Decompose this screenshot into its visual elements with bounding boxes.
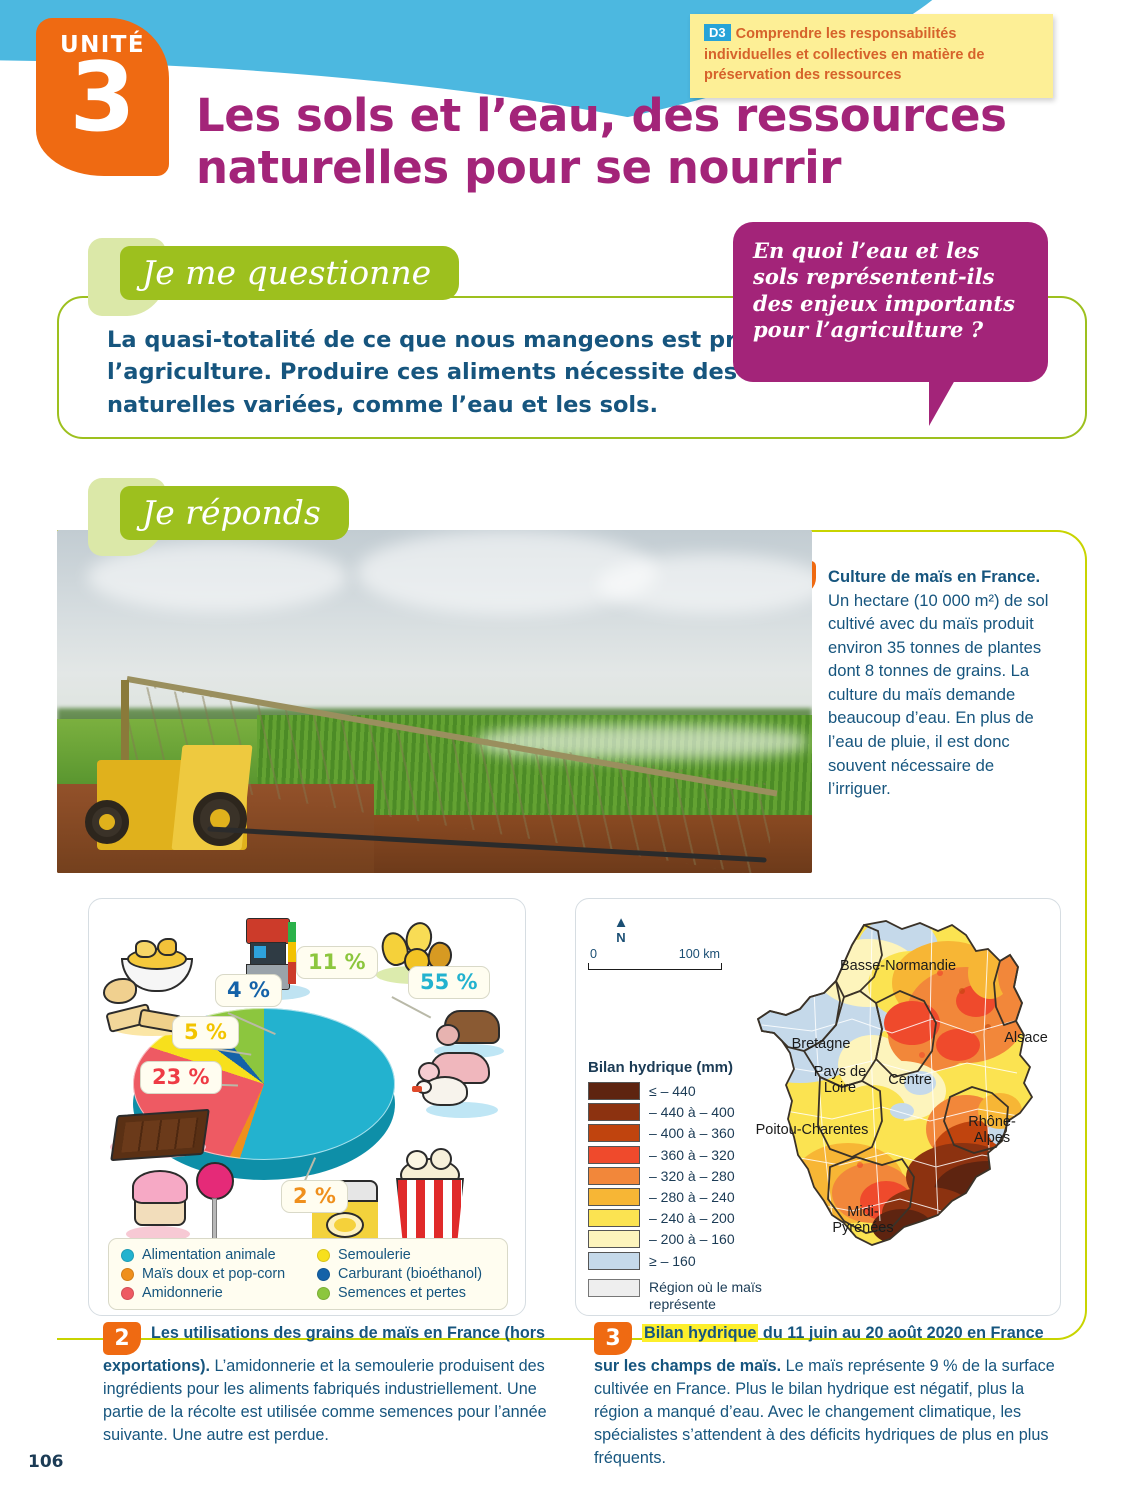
map-legend-label: – 240 à – 200: [649, 1210, 735, 1226]
north-arrow-icon: ▲: [604, 915, 638, 930]
figure-1-title: Culture de maïs en France.: [828, 567, 1040, 586]
pie-label-value: 4 %: [227, 978, 270, 1002]
map-label-basse-normandie: Basse-Normandie: [818, 959, 978, 975]
map-legend-label: – 280 à – 240: [649, 1189, 735, 1205]
pie-chart-legend: Alimentation animale Semoulerie Maïs dou…: [108, 1238, 508, 1310]
pie-label-value: 2 %: [293, 1184, 336, 1208]
pie-label-mais-doux-popcorn: 2 %: [281, 1180, 348, 1213]
pie-label-value: 5 %: [184, 1020, 227, 1044]
map-legend-swatch-icon: [588, 1230, 640, 1248]
map-legend-label: – 440 à – 400: [649, 1104, 735, 1120]
map-legend-swatch-icon: [588, 1209, 640, 1227]
map-label-poitou-charentes: Poitou-Charentes: [732, 1123, 892, 1139]
legend-swatch-icon: [121, 1268, 134, 1281]
figure-2-number-badge: 2: [103, 1322, 141, 1355]
legend-label: Alimentation animale: [142, 1247, 276, 1263]
map-legend-extra-line1: Région où le maïs représente: [649, 1279, 762, 1313]
legend-label: Amidonnerie: [142, 1285, 223, 1301]
page-number: 106: [28, 1452, 64, 1472]
pie-label-value: 23 %: [152, 1065, 210, 1089]
map-label-centre: Centre: [870, 1073, 950, 1089]
north-arrow: ▲ N: [604, 915, 638, 945]
pie-label-value: 11 %: [308, 950, 366, 974]
scale-min-label: 0: [590, 947, 597, 961]
pie-label-semoulerie: 5 %: [172, 1016, 239, 1049]
legend-item-semences-et-pertes: Semences et pertes: [317, 1285, 517, 1301]
map-legend-label: – 200 à – 160: [649, 1231, 735, 1247]
map-label-rhone-alpes: Rhône-Alpes: [952, 1115, 1032, 1147]
unit-badge: UNITÉ 3: [36, 18, 169, 176]
figure-2-caption: 2Les utilisations des grains de maïs en …: [103, 1322, 553, 1447]
scale-max-label: 100 km: [679, 947, 720, 961]
maize-irrigation-photo: [57, 530, 812, 873]
legend-label: Semences et pertes: [338, 1285, 466, 1301]
legend-swatch-icon: [317, 1249, 330, 1262]
page-title: Les sols et l’eau, des ressources nature…: [196, 90, 1016, 194]
map-label-bretagne: Bretagne: [766, 1037, 876, 1053]
guiding-question-text: En quoi l’eau et les sols représentent-i…: [733, 222, 1048, 343]
map-card: ▲ N 0 100 km Bilan hydrique (mm) ≤ – 440…: [575, 898, 1061, 1316]
map-label-alsace: Alsace: [994, 1031, 1058, 1047]
map-legend-swatch-icon: [588, 1188, 640, 1206]
pie-label-semences-et-pertes: 11 %: [296, 946, 378, 979]
map-legend-swatch-icon: [588, 1103, 640, 1121]
france-map-graphic: Basse-Normandie Bretagne Pays de Loire C…: [752, 915, 1052, 1305]
map-scale-bar: 0 100 km: [588, 947, 722, 970]
bubble-tail: [929, 380, 971, 426]
guiding-question-bubble: En quoi l’eau et les sols représentent-i…: [733, 222, 1048, 382]
map-legend-label: – 320 à – 280: [649, 1168, 735, 1184]
legend-swatch-icon: [121, 1287, 134, 1300]
section-tab-questionne: Je me questionne: [88, 238, 418, 318]
section-tab-reponds-label: Je réponds: [120, 486, 349, 540]
north-label: N: [604, 930, 638, 945]
competency-code-badge: D3: [704, 24, 731, 41]
map-legend-label: – 360 à – 320: [649, 1147, 735, 1163]
figure-3-number-badge: 3: [594, 1322, 632, 1355]
competency-sticky-note: D3Comprendre les responsabilités individ…: [690, 14, 1053, 98]
figure-3-title-highlight: Bilan hydrique: [642, 1324, 758, 1342]
map-legend-swatch-icon: [588, 1082, 640, 1100]
legend-item-mais-doux-popcorn: Maïs doux et pop-corn: [121, 1266, 317, 1282]
map-legend-swatch-icon: [588, 1124, 640, 1142]
section-tab-reponds: Je réponds: [88, 478, 378, 558]
legend-label: Carburant (bioéthanol): [338, 1266, 482, 1282]
figure-1-caption: 1 Culture de maïs en France. Un hectare …: [828, 565, 1060, 801]
map-legend-extra-swatch-icon: [588, 1279, 640, 1297]
legend-label: Maïs doux et pop-corn: [142, 1266, 285, 1282]
pie-label-amidonnerie: 23 %: [140, 1061, 222, 1094]
section-tab-questionne-label: Je me questionne: [120, 246, 459, 300]
cloud-shape: [597, 554, 812, 614]
figure-3-caption: 3Bilan hydrique du 11 juin au 20 août 20…: [594, 1322, 1064, 1470]
map-legend-extra-line2: plus de 5 % des surfaces cultivées: [649, 1314, 805, 1317]
competency-text: Comprendre les responsabilités individue…: [704, 26, 984, 83]
map-legend-label: ≥ – 160: [649, 1253, 696, 1269]
unit-number: 3: [36, 55, 169, 142]
map-label-midi-pyrenees: Midi-Pyrénées: [820, 1205, 906, 1237]
map-legend-swatch-icon: [588, 1167, 640, 1185]
map-legend-swatch-icon: [588, 1252, 640, 1270]
legend-item-alimentation-animale: Alimentation animale: [121, 1247, 317, 1263]
map-legend-label: – 400 à – 360: [649, 1125, 735, 1141]
legend-item-amidonnerie: Amidonnerie: [121, 1285, 317, 1301]
legend-label: Semoulerie: [338, 1247, 411, 1263]
legend-item-carburant: Carburant (bioéthanol): [317, 1266, 517, 1282]
figure-1-body: Un hectare (10 000 m²) de sol cultivé av…: [828, 591, 1048, 799]
map-label-pays-de-loire: Pays de Loire: [800, 1065, 880, 1097]
scale-bar-line: [588, 963, 722, 970]
map-legend-swatch-icon: [588, 1146, 640, 1164]
map-legend-label: ≤ – 440: [649, 1083, 696, 1099]
legend-swatch-icon: [121, 1249, 134, 1262]
legend-swatch-icon: [317, 1268, 330, 1281]
pie-label-alimentation-animale: 55 %: [408, 966, 490, 999]
legend-item-semoulerie: Semoulerie: [317, 1247, 517, 1263]
machine-wheel-hub: [99, 814, 115, 830]
legend-swatch-icon: [317, 1287, 330, 1300]
pie-label-value: 55 %: [420, 970, 478, 994]
pie-label-carburant: 4 %: [215, 974, 282, 1007]
